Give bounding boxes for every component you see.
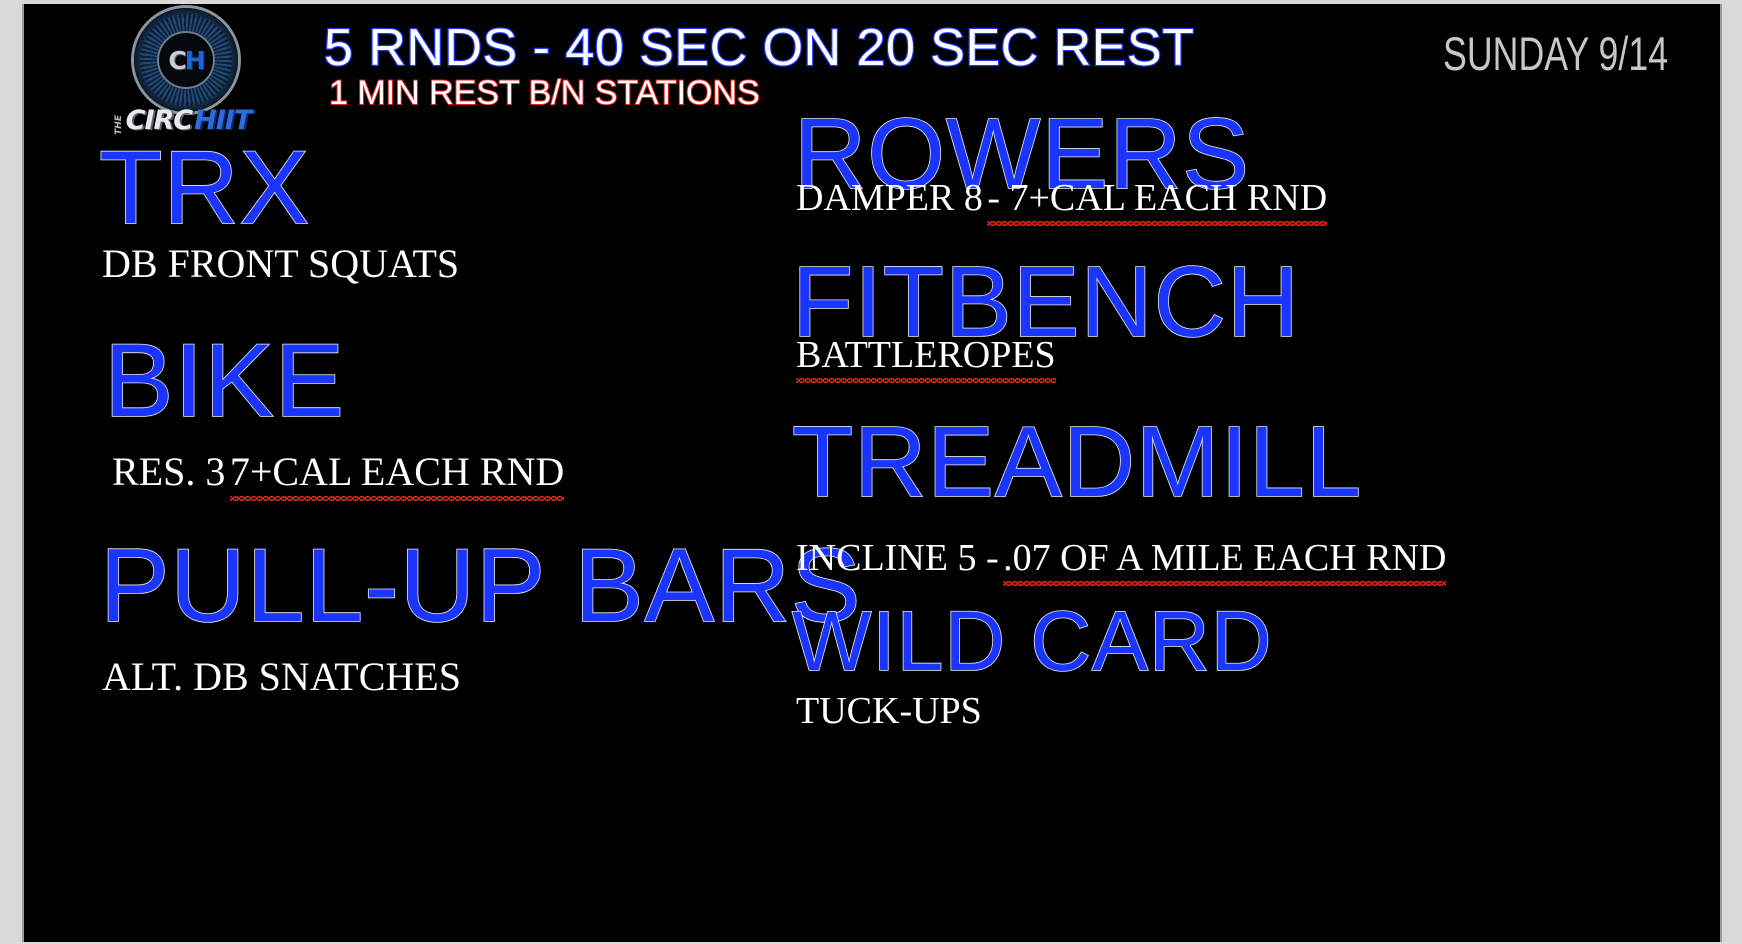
station-wild-card-exercise: TUCK-UPS	[796, 692, 982, 730]
station-treadmill-exercise: INCLINE 5 - .07 OF A MILE EACH RND	[796, 539, 1446, 577]
station-bike: BIKE	[104, 329, 345, 433]
station-pullup-bars: PULL-UP BARS	[100, 534, 861, 638]
exercise-label: - 7+CAL EACH RND	[987, 177, 1327, 219]
station-name: BIKE	[104, 329, 345, 433]
exercise-label: 7+CAL EACH RND	[230, 449, 564, 494]
station-name: PULL-UP BARS	[100, 534, 861, 638]
station-name: TREADMILL	[792, 412, 1362, 512]
exercise-label: TUCK-UPS	[796, 690, 982, 732]
exercise-label: ALT. DB SNATCHES	[102, 654, 461, 699]
brand-logo: CH THE CIRC HIIT	[116, 8, 286, 138]
logo-monogram-c: C	[168, 46, 184, 75]
station-name: TRX	[99, 136, 310, 240]
station-rowers-exercise: DAMPER 8 - 7+CAL EACH RND	[796, 179, 1327, 217]
exercise-label: DB FRONT SQUATS	[102, 241, 459, 286]
station-trx-exercise: DB FRONT SQUATS	[102, 244, 459, 284]
station-setting: RES. 3	[112, 449, 225, 494]
workout-board: CH THE CIRC HIIT 5 RNDS - 40 SEC ON 20 S…	[22, 4, 1722, 942]
workout-date: SUNDAY 9/14	[1443, 26, 1668, 81]
station-wild-card: WILD CARD	[792, 599, 1272, 683]
station-setting: INCLINE 5 -	[796, 537, 999, 579]
station-trx: TRX	[99, 136, 310, 240]
exercise-label: .07 OF A MILE EACH RND	[1003, 537, 1446, 579]
station-pullup-exercise: ALT. DB SNATCHES	[102, 657, 461, 697]
station-setting: DAMPER 8	[796, 177, 983, 219]
workout-format-title: 5 RNDS - 40 SEC ON 20 SEC REST	[324, 18, 1194, 78]
logo-monogram: CH	[134, 8, 238, 112]
workout-rest-note: 1 MIN REST B/N STATIONS	[329, 74, 760, 113]
station-bike-exercise: RES. 3 7+CAL EACH RND	[112, 452, 564, 492]
station-treadmill: TREADMILL	[792, 412, 1362, 512]
station-name: WILD CARD	[792, 599, 1272, 683]
station-fitbench-exercise: BATTLEROPES	[796, 336, 1056, 374]
logo-monogram-h: H	[185, 46, 204, 75]
exercise-label: BATTLEROPES	[796, 334, 1056, 376]
